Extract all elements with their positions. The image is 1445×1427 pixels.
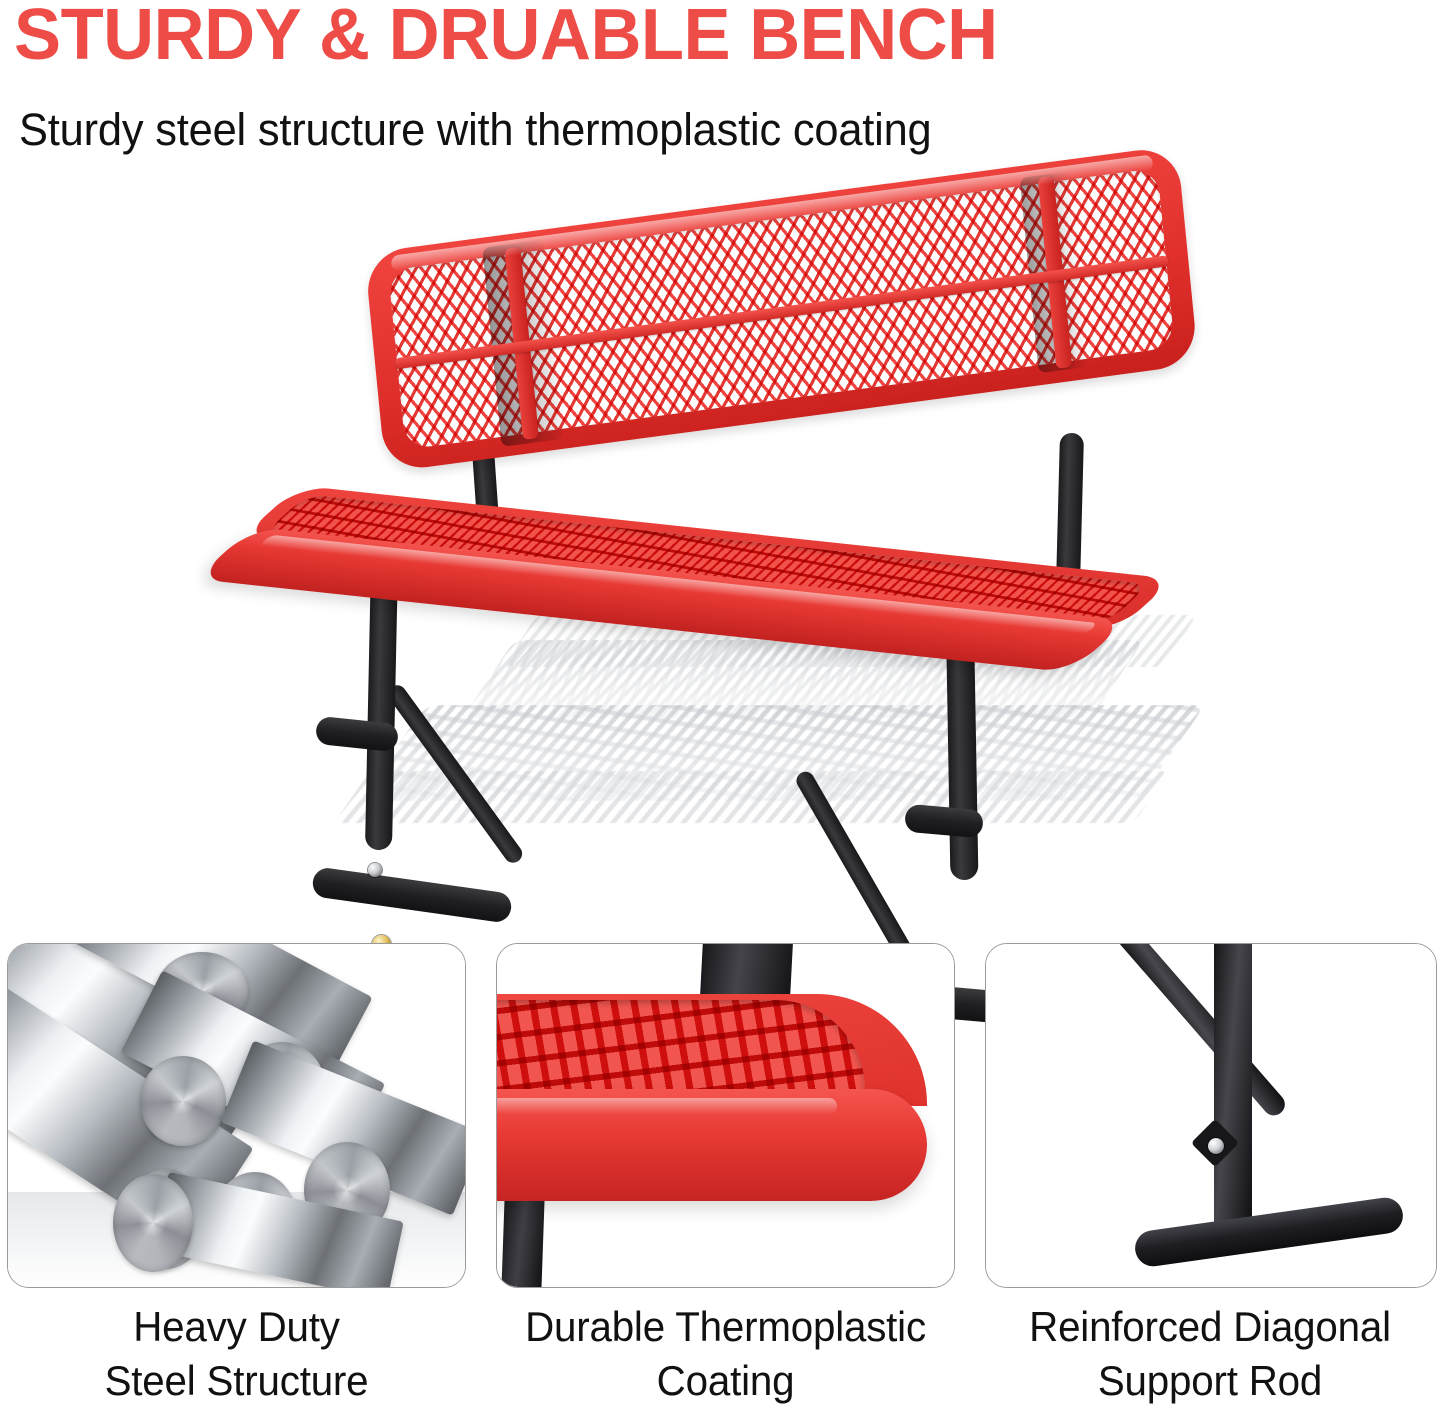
closeup-leg xyxy=(501,1188,545,1288)
rod-screw-left-icon xyxy=(368,863,382,877)
caption-line-1: Heavy Duty xyxy=(16,1300,457,1354)
closeup-vertical-post xyxy=(1214,943,1252,1232)
caption-diagonal-support-rod: Reinforced Diagonal Support Rod xyxy=(975,1300,1445,1408)
closeup-diagonal-rod xyxy=(1109,943,1290,1120)
seat-closeup-image xyxy=(497,944,954,1287)
closeup-t-foot xyxy=(1133,1195,1405,1268)
caption-heavy-duty-steel: Heavy Duty Steel Structure xyxy=(7,1300,466,1408)
feature-panel-thermoplastic-coating xyxy=(496,943,955,1288)
closeup-rod-screw-icon xyxy=(1208,1138,1224,1154)
page-title: STURDY & DRUABLE BENCH xyxy=(14,0,998,74)
feature-panel-diagonal-support-rod xyxy=(985,943,1437,1288)
closeup-seat-mesh-icon xyxy=(496,1000,865,1100)
closeup-seat-highlight xyxy=(496,1098,837,1114)
caption-line-2: Coating xyxy=(496,1354,956,1408)
steel-bars-image xyxy=(8,944,465,1287)
caption-line-1: Reinforced Diagonal xyxy=(984,1300,1435,1354)
bench-foot-left xyxy=(311,866,513,924)
steel-rod-cap-4 xyxy=(140,1056,226,1146)
closeup-seat xyxy=(496,994,927,1199)
feature-panel-heavy-duty-steel xyxy=(7,943,466,1288)
page-subtitle: Sturdy steel structure with thermoplasti… xyxy=(19,104,932,156)
hero-product-image xyxy=(0,175,1445,930)
steel-rod-cap-2 xyxy=(113,1174,193,1272)
feature-panel-row xyxy=(0,943,1445,1288)
feature-caption-row: Heavy Duty Steel Structure Durable Therm… xyxy=(0,1300,1445,1427)
seat-support-stub-right xyxy=(904,804,984,839)
caption-line-1: Durable Thermoplastic xyxy=(496,1300,956,1354)
bench-backrest xyxy=(364,145,1198,473)
caption-line-2: Support Rod xyxy=(984,1354,1435,1408)
caption-thermoplastic-coating: Durable Thermoplastic Coating xyxy=(486,1300,965,1408)
caption-line-2: Steel Structure xyxy=(16,1354,457,1408)
support-rod-image xyxy=(986,944,1436,1287)
